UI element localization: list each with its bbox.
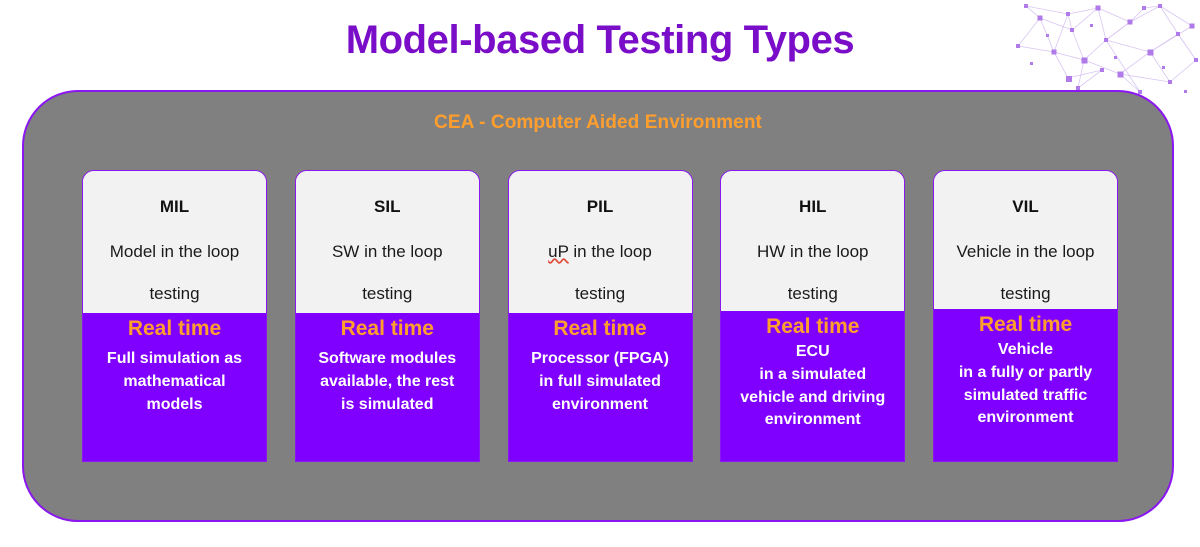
card-code-mil: MIL (160, 198, 189, 215)
realtime-label-sil: Real time (341, 316, 434, 342)
card-description-line1-mil: Model in the loop (110, 242, 239, 261)
card-description-hil: HW in the loop testing (757, 231, 869, 315)
card-bottom-mil: Real time Full simulation as mathematica… (83, 313, 266, 461)
card-description-mil: Model in the loop testing (110, 231, 239, 315)
realtime-label-vil: Real time (979, 312, 1072, 338)
card-bottom-vil: Real time Vehicle in a fully or partly s… (934, 309, 1117, 461)
card-bottom-sil: Real time Software modules available, th… (296, 313, 479, 461)
card-code-sil: SIL (374, 198, 400, 215)
card-description-line2-sil: testing (362, 284, 412, 303)
page-title: Model-based Testing Types (0, 18, 1200, 63)
card-bottom-pil: Real time Processor (FPGA) in full simul… (509, 313, 692, 461)
testing-type-card-sil[interactable]: SIL SW in the loop testing Real time Sof… (295, 170, 480, 462)
spellcheck-underlined-token: uP (548, 242, 569, 261)
card-description-sil: SW in the loop testing (332, 231, 443, 315)
testing-type-card-vil[interactable]: VIL Vehicle in the loop testing Real tim… (933, 170, 1118, 462)
card-description-line1-pil: uP in the loop (548, 242, 652, 261)
realtime-label-mil: Real time (128, 316, 221, 342)
card-description-line1-hil: HW in the loop (757, 242, 869, 261)
card-description-line2-pil: testing (575, 284, 625, 303)
card-top-mil: MIL Model in the loop testing (83, 171, 266, 313)
realtime-label-hil: Real time (766, 314, 859, 340)
card-detail-hil: ECU in a simulated vehicle and driving e… (740, 341, 885, 432)
card-top-sil: SIL SW in the loop testing (296, 171, 479, 313)
card-description-vil: Vehicle in the loop testing (957, 231, 1095, 315)
realtime-label-pil: Real time (553, 316, 646, 342)
card-description-line2-mil: testing (149, 284, 199, 303)
testing-type-card-pil[interactable]: PIL uP in the loop testing Real time Pro… (508, 170, 693, 462)
testing-type-card-hil[interactable]: HIL HW in the loop testing Real time ECU… (720, 170, 905, 462)
card-description-line1-sil: SW in the loop (332, 242, 443, 261)
card-description-line2-hil: testing (788, 284, 838, 303)
card-top-vil: VIL Vehicle in the loop testing (934, 171, 1117, 309)
card-top-hil: HIL HW in the loop testing (721, 171, 904, 311)
cea-container: CEA - Computer Aided Environment MIL Mod… (22, 90, 1174, 522)
card-code-vil: VIL (1012, 198, 1038, 215)
card-detail-sil: Software modules available, the rest is … (318, 348, 456, 416)
testing-types-card-row: MIL Model in the loop testing Real time … (82, 170, 1118, 462)
card-description-pil: uP in the loop testing (548, 231, 652, 315)
card-detail-vil: Vehicle in a fully or partly simulated t… (959, 339, 1092, 430)
card-code-hil: HIL (799, 198, 826, 215)
card-bottom-hil: Real time ECU in a simulated vehicle and… (721, 311, 904, 461)
testing-type-card-mil[interactable]: MIL Model in the loop testing Real time … (82, 170, 267, 462)
card-detail-pil: Processor (FPGA) in full simulated envir… (531, 348, 669, 416)
card-description-line2-vil: testing (1000, 284, 1050, 303)
card-description-line1-vil: Vehicle in the loop (957, 242, 1095, 261)
card-detail-mil: Full simulation as mathematical models (107, 348, 242, 416)
card-code-pil: PIL (587, 198, 613, 215)
card-top-pil: PIL uP in the loop testing (509, 171, 692, 313)
cea-heading: CEA - Computer Aided Environment (24, 112, 1172, 134)
